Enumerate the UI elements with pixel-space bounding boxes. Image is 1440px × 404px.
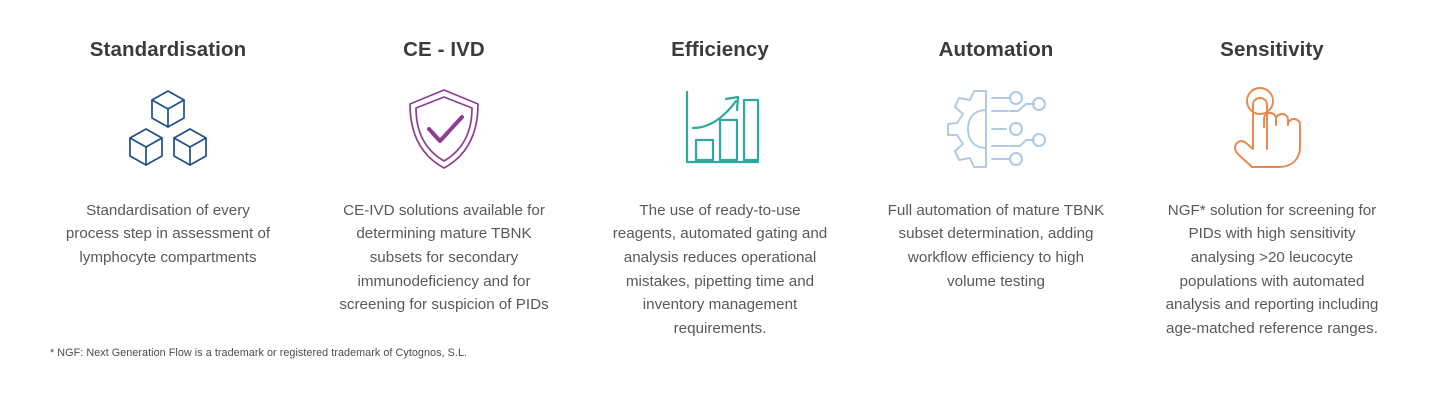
shield-check-icon [404,83,484,175]
feature-column-automation: Automation [858,0,1134,293]
feature-column-standardisation: Standardisation Standardisatio [30,0,306,270]
feature-body-standardisation: Standardisation of every process step in… [59,199,277,270]
feature-body-automation: Full automation of mature TBNK subset de… [887,199,1105,294]
bar-chart-growth-icon [678,83,762,175]
feature-heading-ce-ivd: CE - IVD [403,38,485,63]
feature-body-sensitivity: NGF* solution for screening for PIDs wit… [1163,199,1381,341]
feature-columns: Standardisation Standardisatio [0,0,1440,341]
feature-heading-sensitivity: Sensitivity [1220,38,1324,63]
feature-heading-automation: Automation [939,38,1054,63]
footnote-trademark: * NGF: Next Generation Flow is a tradema… [50,347,467,359]
gear-circuit-icon [946,83,1046,175]
stacked-cubes-icon [122,83,214,175]
feature-column-sensitivity: Sensitivity NGF* solution for screening … [1134,0,1410,341]
feature-column-efficiency: Efficiency The use of ready-to-use reage… [582,0,858,341]
feature-column-ce-ivd: CE - IVD CE-IVD solutions available for … [306,0,582,317]
pointing-hand-tap-icon [1232,83,1312,175]
feature-body-ce-ivd: CE-IVD solutions available for determini… [335,199,553,318]
feature-highlights-panel: Standardisation Standardisatio [0,0,1440,404]
feature-heading-efficiency: Efficiency [671,38,769,63]
feature-body-efficiency: The use of ready-to-use reagents, automa… [611,199,829,341]
feature-heading-standardisation: Standardisation [90,38,246,63]
